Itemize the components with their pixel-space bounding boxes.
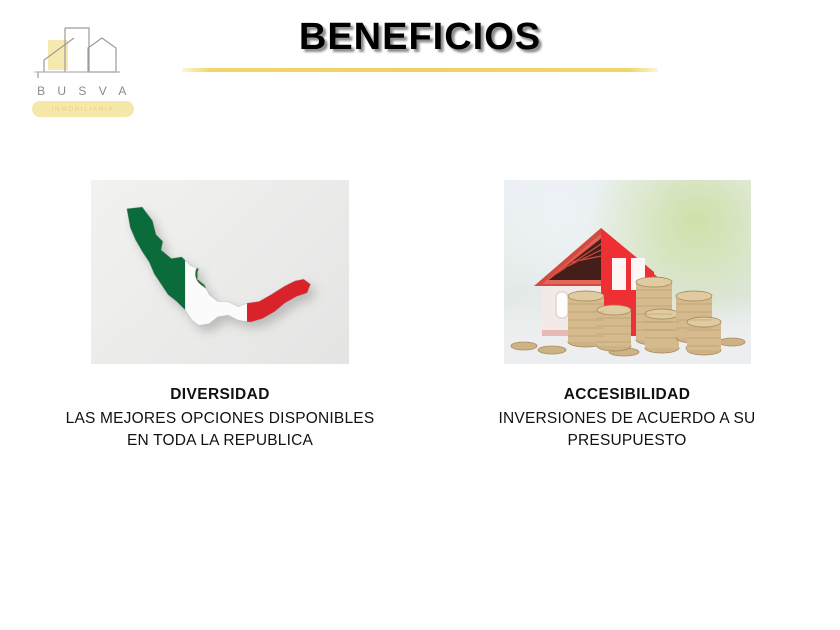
benefit-caption-diversidad: DIVERSIDAD LAS MEJORES OPCIONES DISPONIB…	[14, 384, 426, 452]
benefit-body-line: INVERSIONES DE ACUERDO A SU	[428, 408, 826, 430]
slide-canvas: B U S V A Inmobiliaria BENEFICIOS	[0, 0, 840, 630]
benefit-body-line: PRESUPUESTO	[428, 430, 826, 452]
logo-tagline-banner: Inmobiliaria	[32, 101, 134, 117]
logo-wordmark: B U S V A	[22, 84, 142, 98]
benefit-body: LAS MEJORES OPCIONES DISPONIBLES EN TODA…	[14, 408, 426, 452]
page-title: BENEFICIOS	[0, 16, 840, 59]
title-underline-rule	[182, 68, 658, 72]
benefit-heading: DIVERSIDAD	[14, 384, 426, 406]
benefit-card-diversidad: DIVERSIDAD LAS MEJORES OPCIONES DISPONIB…	[14, 180, 426, 452]
logo-tagline: Inmobiliaria	[52, 106, 115, 113]
benefit-card-accesibilidad: ACCESIBILIDAD INVERSIONES DE ACUERDO A S…	[428, 180, 826, 452]
benefit-body: INVERSIONES DE ACUERDO A SU PRESUPUESTO	[428, 408, 826, 452]
benefit-heading: ACCESIBILIDAD	[428, 384, 826, 406]
benefit-caption-accesibilidad: ACCESIBILIDAD INVERSIONES DE ACUERDO A S…	[428, 384, 826, 452]
house-and-coins-image	[504, 180, 751, 364]
mexico-flag-map-image	[91, 180, 349, 364]
benefit-body-line: EN TODA LA REPUBLICA	[14, 430, 426, 452]
benefit-body-line: LAS MEJORES OPCIONES DISPONIBLES	[14, 408, 426, 430]
